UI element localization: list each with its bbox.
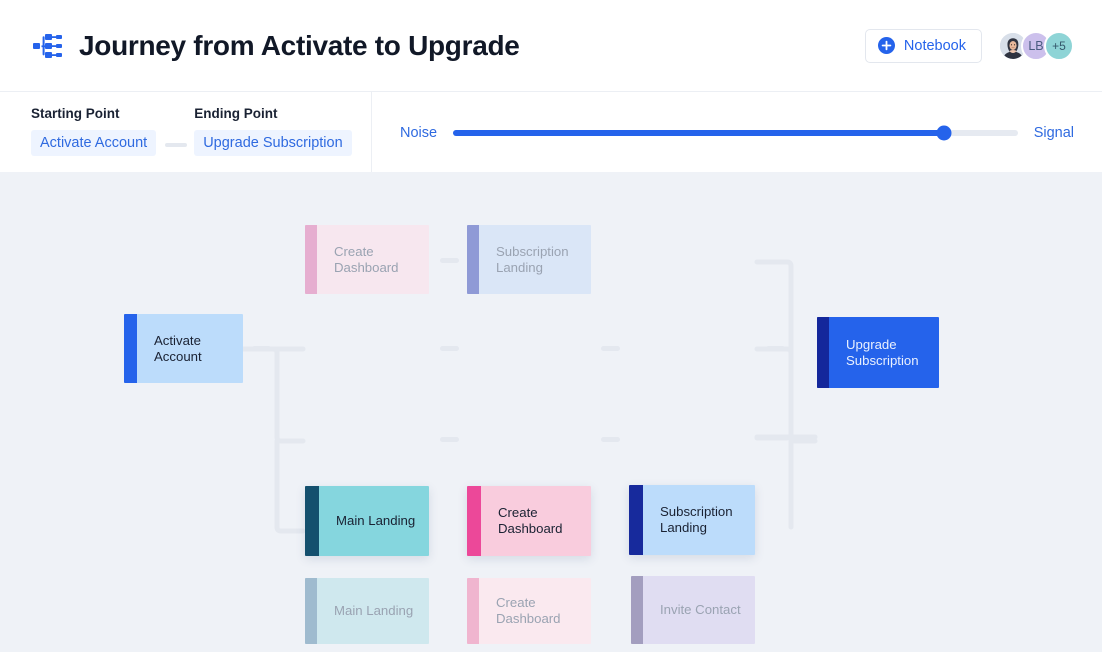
app-header: Journey from Activate to Upgrade Noteboo… [0, 0, 1102, 91]
ending-point-group: Ending Point Upgrade Subscription [194, 106, 351, 173]
journey-canvas[interactable]: Activate AccountCreate DashboardMain Lan… [0, 172, 1102, 652]
starting-point-group: Starting Point Activate Account [31, 106, 156, 173]
node-invite-contact[interactable]: Invite Contact [631, 576, 755, 644]
node-main-landing-mid[interactable]: Main Landing [305, 486, 429, 556]
avatar-overflow[interactable]: +5 [1044, 31, 1074, 61]
starting-point-label: Starting Point [31, 106, 156, 121]
node-label: Subscription Landing [643, 504, 743, 536]
slider-label-noise: Noise [400, 125, 437, 141]
flow-tree-icon [31, 29, 65, 63]
node-subscription-landing-mid[interactable]: Subscription Landing [629, 485, 755, 555]
ending-point-label: Ending Point [194, 106, 351, 121]
journey-app: Journey from Activate to Upgrade Noteboo… [0, 0, 1102, 652]
node-accent-bar [305, 225, 317, 294]
ending-point-chip[interactable]: Upgrade Subscription [194, 130, 351, 156]
header-actions: Notebook LB +5 [865, 29, 1102, 63]
brand: Journey from Activate to Upgrade [0, 29, 520, 63]
node-create-dashboard-mid[interactable]: Create Dashboard [467, 486, 591, 556]
slider-label-signal: Signal [1034, 125, 1074, 141]
avatar-group[interactable]: LB +5 [998, 31, 1074, 61]
slider-track[interactable] [453, 130, 1018, 136]
node-label: Main Landing [319, 513, 425, 529]
node-accent-bar [124, 314, 137, 383]
node-label: Invite Contact [643, 602, 751, 618]
controls-bar: Starting Point Activate Account Ending P… [0, 91, 1102, 172]
node-create-dashboard-bottom[interactable]: Create Dashboard [467, 578, 591, 644]
node-accent-bar [305, 578, 317, 644]
node-accent-bar [467, 578, 479, 644]
node-upgrade-subscription[interactable]: Upgrade Subscription [817, 317, 939, 388]
node-label: Upgrade Subscription [829, 337, 929, 369]
node-subscription-landing-top[interactable]: Subscription Landing [467, 225, 591, 294]
node-accent-bar [305, 486, 319, 556]
node-accent-bar [631, 576, 643, 644]
node-label: Create Dashboard [317, 244, 409, 276]
notebook-button[interactable]: Notebook [865, 29, 982, 63]
slider-thumb[interactable] [937, 125, 952, 140]
node-accent-bar [817, 317, 829, 388]
endpoints-panel: Starting Point Activate Account Ending P… [0, 92, 372, 173]
node-label: Main Landing [317, 603, 423, 619]
node-label: Create Dashboard [481, 505, 573, 537]
node-activate-account[interactable]: Activate Account [124, 314, 243, 383]
notebook-button-label: Notebook [904, 38, 966, 54]
node-accent-bar [467, 225, 479, 294]
endpoint-connector-dash [165, 143, 187, 147]
starting-point-chip[interactable]: Activate Account [31, 130, 156, 156]
node-create-dashboard-top[interactable]: Create Dashboard [305, 225, 429, 294]
page-title: Journey from Activate to Upgrade [79, 30, 520, 62]
node-accent-bar [629, 485, 643, 555]
node-label: Activate Account [137, 333, 212, 365]
node-accent-bar [467, 486, 481, 556]
plus-circle-icon [878, 37, 895, 54]
noise-signal-slider: Noise Signal [372, 92, 1102, 173]
slider-fill [453, 130, 944, 136]
node-label: Subscription Landing [479, 244, 579, 276]
node-main-landing-bottom[interactable]: Main Landing [305, 578, 429, 644]
node-label: Create Dashboard [479, 595, 571, 627]
